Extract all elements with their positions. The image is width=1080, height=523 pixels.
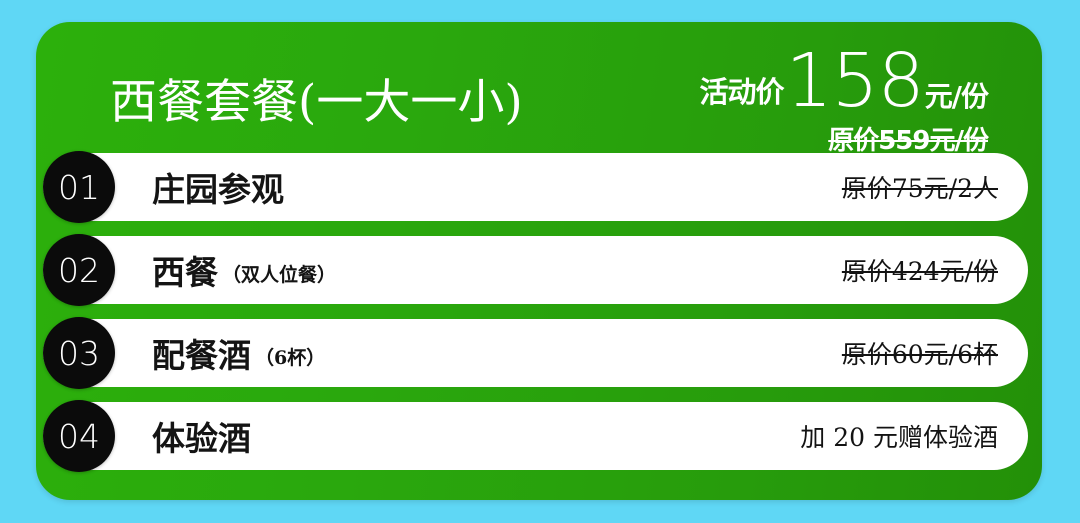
page-title: 西餐套餐(一大一小): [110, 74, 523, 132]
list-item: 04 体验酒 加 20 元赠体验酒: [36, 402, 1042, 470]
row-label: 体验酒: [152, 412, 251, 460]
list-item: 01 庄园参观 原价75元/2人: [36, 153, 1042, 221]
promo-price-line: 活动价 158 元/份: [668, 44, 988, 118]
row-number-badge: 02: [43, 234, 115, 306]
row-number-badge: 01: [43, 151, 115, 223]
row-label: 庄园参观: [152, 163, 284, 211]
benefit-list: 01 庄园参观 原价75元/2人 02 西餐 （双人位餐） 原价424元/: [36, 153, 1042, 485]
row-note: 加 20 元赠体验酒: [800, 418, 998, 454]
list-item: 02 西餐 （双人位餐） 原价424元/份: [36, 236, 1042, 304]
row-sublabel: （双人位餐）: [222, 260, 336, 287]
promo-price-unit: 元/份: [925, 75, 988, 115]
promo-price-amount: 158: [786, 44, 924, 118]
row-label: 配餐酒: [152, 329, 251, 377]
row-note: 原价424元/份: [842, 252, 998, 288]
row-label-group: 配餐酒 （6杯）: [152, 319, 325, 387]
list-item: 03 配餐酒 （6杯） 原价60元/6杯: [36, 319, 1042, 387]
package-card: 西餐套餐(一大一小) 活动价 158 元/份 原价559元/份 01 庄园参观: [36, 22, 1042, 500]
row-note-group: 加 20 元赠体验酒: [800, 402, 998, 470]
row-label-group: 庄园参观: [152, 153, 288, 221]
row-label: 西餐: [152, 246, 218, 294]
original-price: 原价559元/份: [828, 120, 988, 157]
promo-price-label: 活动价: [700, 69, 784, 111]
row-note: 原价60元/6杯: [842, 335, 998, 371]
row-note-group: 原价424元/份: [842, 236, 998, 304]
price-block: 活动价 158 元/份 原价559元/份: [668, 44, 988, 154]
row-note-group: 原价60元/6杯: [842, 319, 998, 387]
poster-stage: 西餐套餐(一大一小) 活动价 158 元/份 原价559元/份 01 庄园参观: [0, 0, 1080, 523]
row-label-group: 西餐 （双人位餐）: [152, 236, 336, 304]
row-note-group: 原价75元/2人: [842, 153, 998, 221]
card-header: 西餐套餐(一大一小) 活动价 158 元/份 原价559元/份: [36, 22, 1042, 153]
row-sublabel: （6杯）: [255, 343, 325, 370]
row-number-badge: 04: [43, 400, 115, 472]
original-price-line: 原价559元/份: [668, 118, 988, 157]
row-number-badge: 03: [43, 317, 115, 389]
row-note: 原价75元/2人: [842, 169, 998, 205]
row-label-group: 体验酒: [152, 402, 255, 470]
